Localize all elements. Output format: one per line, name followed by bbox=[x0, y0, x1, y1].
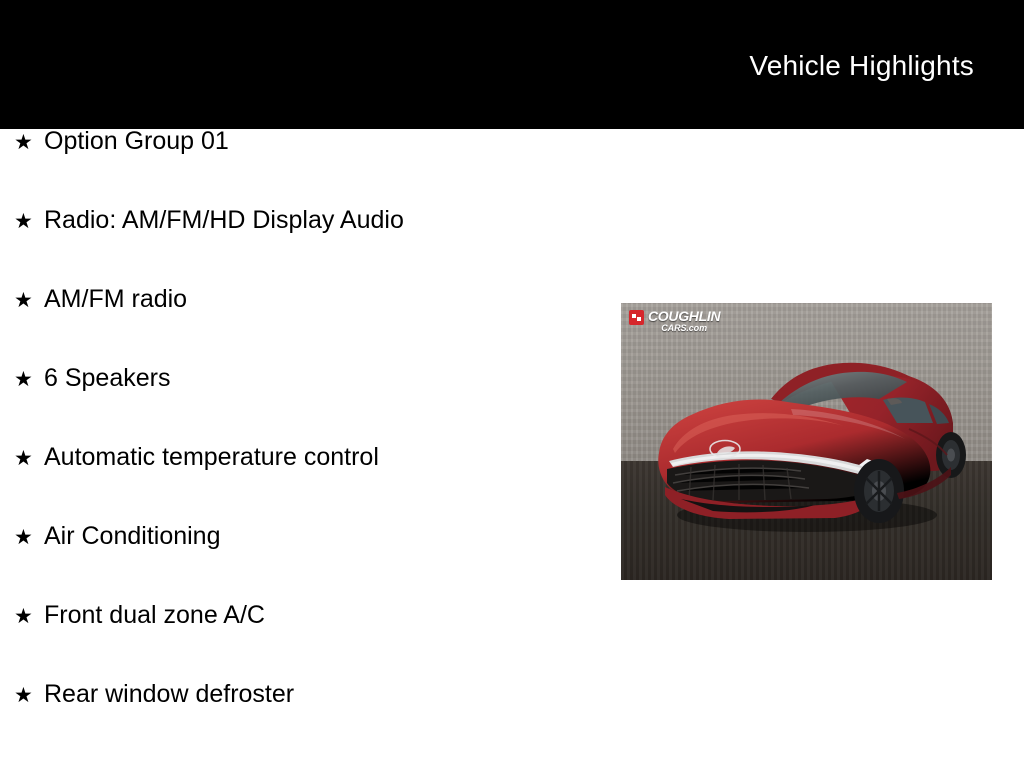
vehicle-photo: COUGHLIN CARS.com bbox=[621, 303, 992, 580]
list-item: ★ Front dual zone A/C bbox=[0, 603, 600, 682]
list-item: ★ AM/FM radio bbox=[0, 287, 600, 366]
star-icon: ★ bbox=[14, 685, 44, 706]
highlight-label: Automatic temperature control bbox=[44, 445, 379, 470]
highlight-label: Front dual zone A/C bbox=[44, 603, 265, 628]
star-icon: ★ bbox=[14, 369, 44, 390]
star-icon: ★ bbox=[14, 132, 44, 153]
watermark-text: COUGHLIN CARS.com bbox=[648, 309, 720, 333]
star-icon: ★ bbox=[14, 606, 44, 627]
list-item: ★ 6 Speakers bbox=[0, 366, 600, 445]
star-icon: ★ bbox=[14, 527, 44, 548]
header-band: Vehicle Highlights bbox=[0, 0, 1024, 129]
list-item: ★ Radio: AM/FM/HD Display Audio bbox=[0, 208, 600, 287]
list-item: ★ Automatic temperature control bbox=[0, 445, 600, 524]
coughlin-logo-icon bbox=[629, 310, 644, 325]
highlight-label: Option Group 01 bbox=[44, 129, 229, 154]
highlight-label: Air Conditioning bbox=[44, 524, 221, 549]
list-item: ★ Rear window defroster bbox=[0, 682, 600, 761]
watermark-dealer-subtitle: CARS.com bbox=[648, 324, 720, 333]
highlight-label: 6 Speakers bbox=[44, 366, 170, 391]
list-item: ★ Option Group 01 bbox=[0, 129, 600, 208]
star-icon: ★ bbox=[14, 290, 44, 311]
highlight-label: AM/FM radio bbox=[44, 287, 187, 312]
highlight-label: Rear window defroster bbox=[44, 682, 294, 707]
vehicle-highlights-page: Vehicle Highlights ★ Option Group 01 ★ R… bbox=[0, 0, 1024, 768]
star-icon: ★ bbox=[14, 448, 44, 469]
car-illustration bbox=[621, 303, 992, 580]
list-item: ★ Air Conditioning bbox=[0, 524, 600, 603]
vehicle-highlights-list: ★ Option Group 01 ★ Radio: AM/FM/HD Disp… bbox=[0, 129, 600, 761]
star-icon: ★ bbox=[14, 211, 44, 232]
highlight-label: Radio: AM/FM/HD Display Audio bbox=[44, 208, 404, 233]
watermark-dealer-name: COUGHLIN bbox=[648, 309, 720, 323]
page-title: Vehicle Highlights bbox=[749, 50, 974, 82]
dealer-watermark: COUGHLIN CARS.com bbox=[629, 309, 720, 333]
